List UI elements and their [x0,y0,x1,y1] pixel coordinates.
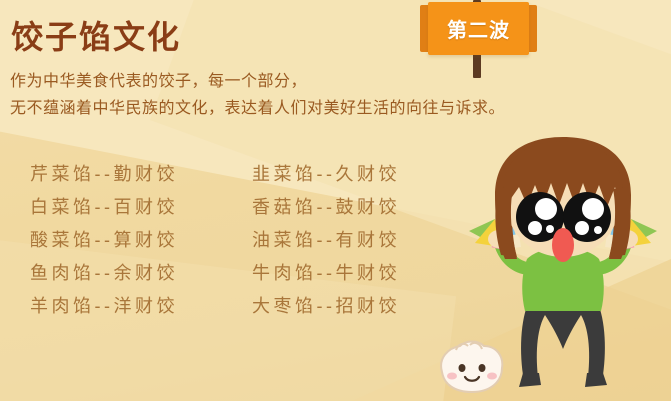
girl-mouth [552,228,574,262]
banner-sign: 第二波 [420,2,537,55]
filling-name: 油菜馅--有财饺 [252,226,452,252]
filling-name: 韭菜馅--久财饺 [252,160,452,186]
dumpling-body [441,342,502,393]
list-item: 白菜馅--百财饺 香菇馅--鼓财饺 [30,189,452,222]
list-item: 芹菜馅--勤财饺 韭菜馅--久财饺 [30,156,452,189]
subtitle-line-1: 作为中华美食代表的饺子，每一个部分， [10,68,505,95]
filling-name: 白菜馅--百财饺 [30,193,252,219]
subtitle-line-2: 无不蕴涵着中华民族的文化，表达着人们对美好生活的向往与诉求。 [10,95,505,122]
poster-canvas: 饺子馅文化 作为中华美食代表的饺子，每一个部分， 无不蕴涵着中华民族的文化，表达… [0,0,671,401]
filling-name: 羊肉馅--洋财饺 [30,292,252,318]
filling-name: 鱼肉馅--余财饺 [30,259,252,285]
filling-name: 芹菜馅--勤财饺 [30,160,252,186]
filling-list: 芹菜馅--勤财饺 韭菜馅--久财饺 白菜馅--百财饺 香菇馅--鼓财饺 酸菜馅-… [30,156,452,321]
filling-name: 牛肉馅--牛财饺 [252,259,452,285]
page-subtitle: 作为中华美食代表的饺子，每一个部分， 无不蕴涵着中华民族的文化，表达着人们对美好… [10,68,505,122]
banner-label: 第二波 [420,2,537,55]
list-item: 鱼肉馅--余财饺 牛肉馅--牛财饺 [30,255,452,288]
filling-name: 酸菜馅--算财饺 [30,226,252,252]
filling-name: 大枣馅--招财饺 [252,292,452,318]
page-title: 饺子馅文化 [11,18,181,56]
dumpling-mascot [432,338,508,396]
filling-name: 香菇馅--鼓财饺 [252,193,452,219]
list-item: 羊肉馅--洋财饺 大枣馅--招财饺 [30,288,452,321]
list-item: 酸菜馅--算财饺 油菜馅--有财饺 [30,222,452,255]
